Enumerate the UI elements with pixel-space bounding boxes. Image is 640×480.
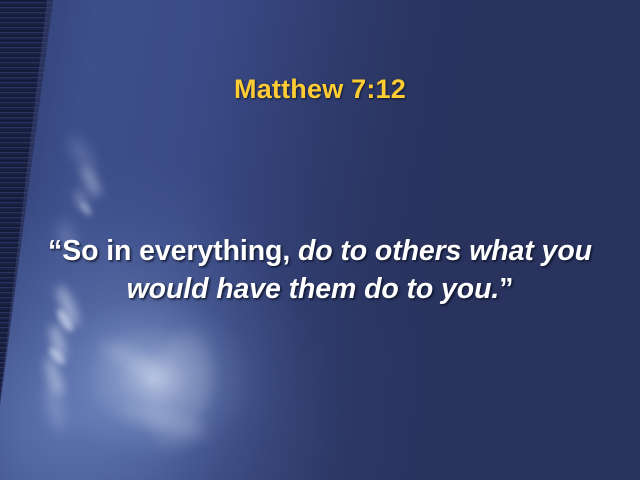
slide-title: Matthew 7:12 [0,74,640,105]
decorative-striped-wedge [0,0,60,410]
quote-open-mark: “ [48,235,62,267]
quote-close-mark: ” [499,273,513,305]
presentation-slide: Matthew 7:12 “So in everything, do to ot… [0,0,640,480]
scripture-quote: “So in everything, do to others what you… [46,232,594,308]
quote-lead-text: So in everything, [62,235,298,267]
